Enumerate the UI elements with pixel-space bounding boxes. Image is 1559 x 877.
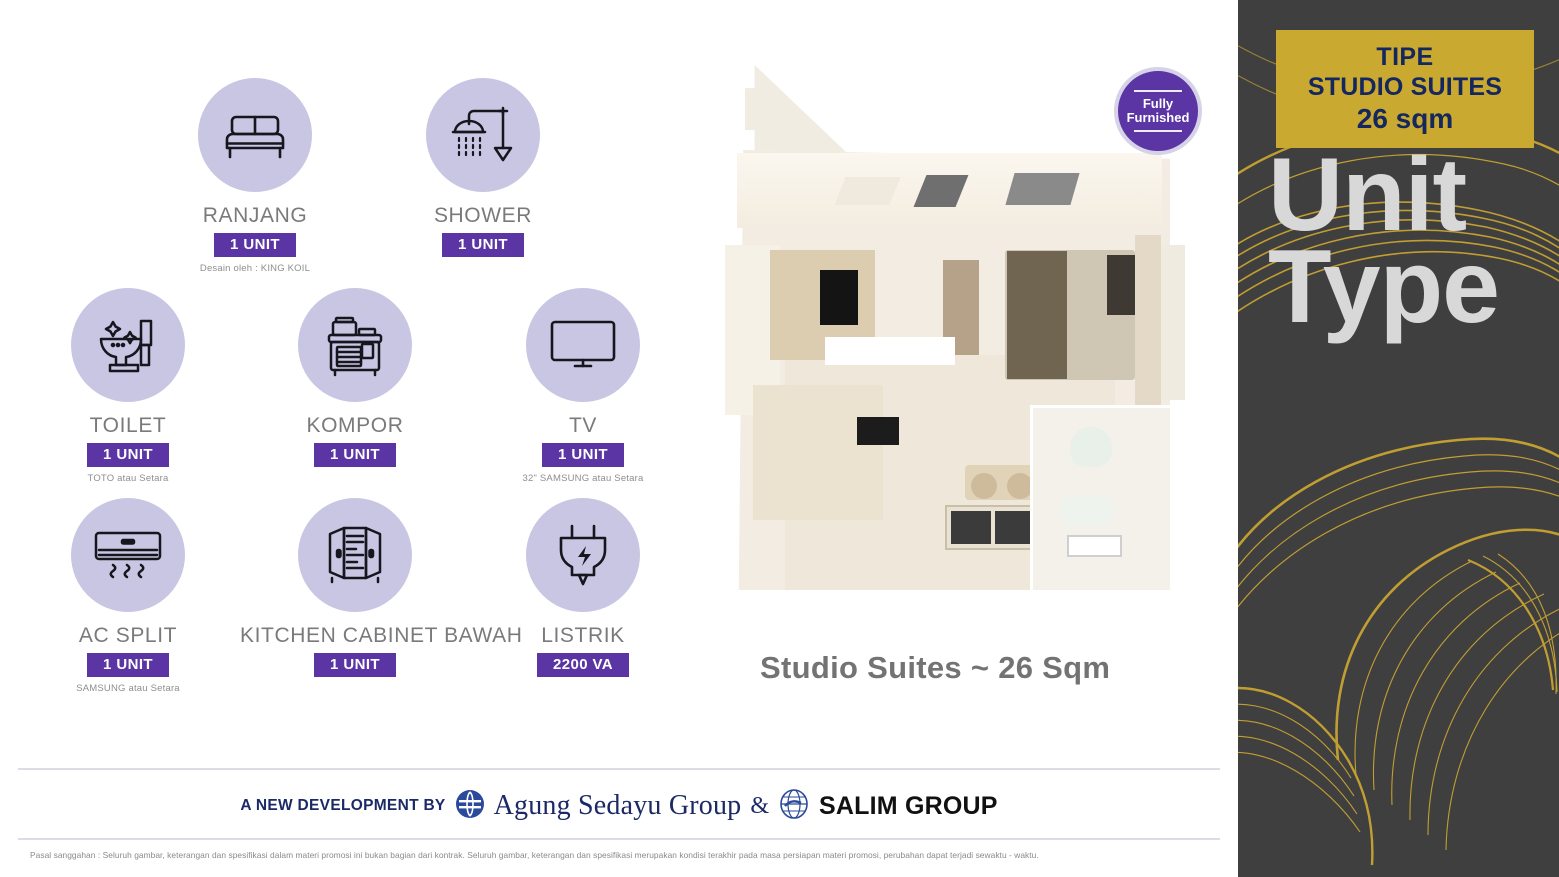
unit-render-image: Fully Furnished [715,55,1220,635]
feature-badge: 1 UNIT [542,443,624,467]
bed-pillow [1107,255,1137,315]
feature-grid: RANJANG 1 UNIT Desain oleh : KING KOIL [30,78,690,708]
developer-one-name: Agung Sedayu Group [494,790,742,822]
feature-item-shower: SHOWER 1 UNIT [368,78,598,263]
stove-burner-2 [995,511,1035,544]
ceiling-light-3 [1005,173,1079,205]
tipe-size: 26 sqm [1357,103,1454,135]
developer-credit-bar: A NEW DEVELOPMENT BY Agung Sedayu Group … [18,782,1220,830]
feature-subtext: 32" SAMSUNG atau Setara [468,473,698,484]
bathroom-toilet [1060,495,1115,525]
developer-prefix-label: A NEW DEVELOPMENT BY [240,797,445,815]
tipe-label: TIPE [1376,43,1433,72]
feature-item-listrik: LISTRIK 2200 VA [468,498,698,683]
power-plug-icon [526,498,640,612]
feature-title: TV [468,414,698,438]
feature-title: TOILET [13,414,243,438]
feature-subtext: Desain oleh : KING KOIL [140,263,370,274]
stove-icon [298,288,412,402]
ceiling-light-1 [834,177,900,205]
sidebar-title-line2: Type [1268,242,1558,334]
footer-divider-bottom [18,838,1220,840]
feature-badge: 2200 VA [537,653,629,677]
headboard [1135,235,1161,405]
fully-furnished-badge: Fully Furnished [1114,67,1202,155]
feature-badge: 1 UNIT [87,443,169,467]
air-conditioner-icon [71,498,185,612]
kitchen-decor-1 [971,473,997,499]
bathroom-counter [1067,535,1122,557]
render-caption: Studio Suites ~ 26 Sqm [760,650,1110,686]
television-icon [526,288,640,402]
toilet-icon [71,288,185,402]
shower-icon [426,78,540,192]
feature-item-kompor: KOMPOR 1 UNIT [240,288,470,473]
disclaimer-text: Pasal sanggahan : Seluruh gambar, ketera… [30,850,1220,861]
badge-text: Fully Furnished [1127,97,1190,124]
feature-title: SHOWER [368,204,598,228]
tv-screen-furniture [820,270,858,325]
feature-item-ac-split: AC SPLIT 1 UNIT SAMSUNG atau Setara [13,498,243,694]
feature-item-tv: TV 1 UNIT 32" SAMSUNG atau Setara [468,288,698,484]
feature-badge: 1 UNIT [87,653,169,677]
feature-title: KOMPOR [240,414,470,438]
agung-sedayu-logo-icon [455,789,485,824]
feature-badge: 1 UNIT [314,443,396,467]
salim-group-logo-icon [778,789,810,824]
feature-subtext: TOTO atau Setara [13,473,243,484]
brochure-left-panel: RANJANG 1 UNIT Desain oleh : KING KOIL [0,0,1238,877]
sidebar-panel: TIPE STUDIO SUITES 26 sqm Unit Type [1238,0,1559,877]
microwave-furniture [857,417,899,445]
feature-badge: 1 UNIT [314,653,396,677]
badge-rule-bottom [1134,130,1182,132]
bathroom-basin [1070,427,1112,467]
feature-item-kitchen-cabinet: KITCHEN CABINET BAWAH 1 UNIT [240,498,470,683]
stove-burner-1 [951,511,991,544]
feature-subtext: SAMSUNG atau Setara [13,683,243,694]
sidebar-title: Unit Type [1268,150,1558,333]
feature-badge: 1 UNIT [442,233,524,257]
feature-title: AC SPLIT [13,624,243,648]
badge-text-line2: Furnished [1127,110,1190,125]
feature-title: RANJANG [140,204,370,228]
developer-two-name: SALIM GROUP [819,792,998,821]
sidebar-title-line1: Unit [1268,150,1558,242]
cabinet-icon [298,498,412,612]
footer-divider-top [18,768,1220,770]
feature-item-toilet: TOILET 1 UNIT TOTO atau Setara [13,288,243,484]
lower-cabinet [753,385,883,520]
feature-badge: 1 UNIT [214,233,296,257]
feature-title: KITCHEN CABINET BAWAH [240,624,470,648]
badge-rule-top [1134,90,1182,92]
brochure-page: RANJANG 1 UNIT Desain oleh : KING KOIL [0,0,1559,877]
bed-icon [198,78,312,192]
ampersand: & [750,793,769,820]
unit-type-banner: TIPE STUDIO SUITES 26 sqm [1276,30,1534,148]
feature-item-ranjang: RANJANG 1 UNIT Desain oleh : KING KOIL [140,78,370,274]
tipe-name: STUDIO SUITES [1308,73,1502,102]
counter-top [825,337,955,365]
bed-blanket [1007,251,1067,379]
feature-title: LISTRIK [468,624,698,648]
